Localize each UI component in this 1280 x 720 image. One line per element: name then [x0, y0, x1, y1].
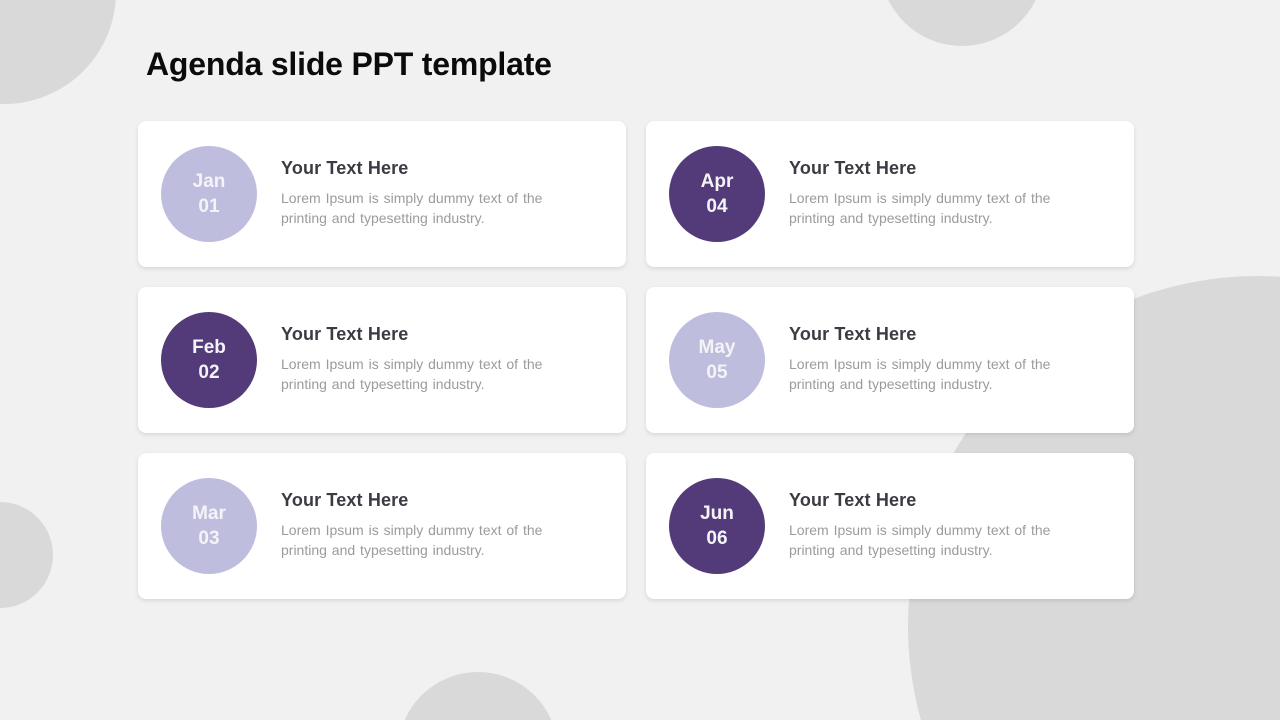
- badge-number-label: 04: [706, 194, 727, 219]
- agenda-card-heading: Your Text Here: [789, 158, 1089, 179]
- agenda-card-grid: Jan 01 Your Text Here Lorem Ipsum is sim…: [138, 121, 1134, 599]
- agenda-card-text: Lorem Ipsum is simply dummy text of the …: [789, 521, 1089, 560]
- badge-month-label: Apr: [701, 169, 734, 194]
- agenda-card-body: Your Text Here Lorem Ipsum is simply dum…: [281, 490, 581, 562]
- badge-number-label: 03: [198, 526, 219, 551]
- agenda-card-text: Lorem Ipsum is simply dummy text of the …: [789, 189, 1089, 228]
- agenda-card-heading: Your Text Here: [789, 324, 1089, 345]
- badge-number-label: 01: [198, 194, 219, 219]
- badge-number-label: 02: [198, 360, 219, 385]
- agenda-card-body: Your Text Here Lorem Ipsum is simply dum…: [281, 158, 581, 230]
- agenda-card-body: Your Text Here Lorem Ipsum is simply dum…: [281, 324, 581, 396]
- agenda-card-heading: Your Text Here: [281, 158, 581, 179]
- month-badge: May 05: [669, 312, 765, 408]
- month-badge: Mar 03: [161, 478, 257, 574]
- agenda-card[interactable]: Mar 03 Your Text Here Lorem Ipsum is sim…: [138, 453, 626, 599]
- agenda-card-text: Lorem Ipsum is simply dummy text of the …: [789, 355, 1089, 394]
- month-badge: Feb 02: [161, 312, 257, 408]
- agenda-card-heading: Your Text Here: [789, 490, 1089, 511]
- agenda-card[interactable]: Feb 02 Your Text Here Lorem Ipsum is sim…: [138, 287, 626, 433]
- agenda-slide: Agenda slide PPT template Jan 01 Your Te…: [0, 0, 1280, 720]
- badge-number-label: 05: [706, 360, 727, 385]
- badge-month-label: May: [699, 335, 736, 360]
- badge-number-label: 06: [706, 526, 727, 551]
- agenda-card-heading: Your Text Here: [281, 324, 581, 345]
- badge-month-label: Jan: [193, 169, 226, 194]
- agenda-card[interactable]: Jan 01 Your Text Here Lorem Ipsum is sim…: [138, 121, 626, 267]
- agenda-card[interactable]: May 05 Your Text Here Lorem Ipsum is sim…: [646, 287, 1134, 433]
- badge-month-label: Feb: [192, 335, 226, 360]
- agenda-card-body: Your Text Here Lorem Ipsum is simply dum…: [789, 490, 1089, 562]
- month-badge: Jan 01: [161, 146, 257, 242]
- page-title: Agenda slide PPT template: [146, 46, 552, 83]
- agenda-card-body: Your Text Here Lorem Ipsum is simply dum…: [789, 324, 1089, 396]
- month-badge: Apr 04: [669, 146, 765, 242]
- badge-month-label: Jun: [700, 501, 734, 526]
- agenda-card[interactable]: Apr 04 Your Text Here Lorem Ipsum is sim…: [646, 121, 1134, 267]
- month-badge: Jun 06: [669, 478, 765, 574]
- agenda-card[interactable]: Jun 06 Your Text Here Lorem Ipsum is sim…: [646, 453, 1134, 599]
- badge-month-label: Mar: [192, 501, 226, 526]
- agenda-card-body: Your Text Here Lorem Ipsum is simply dum…: [789, 158, 1089, 230]
- agenda-card-text: Lorem Ipsum is simply dummy text of the …: [281, 189, 581, 228]
- agenda-card-heading: Your Text Here: [281, 490, 581, 511]
- agenda-card-text: Lorem Ipsum is simply dummy text of the …: [281, 521, 581, 560]
- agenda-card-text: Lorem Ipsum is simply dummy text of the …: [281, 355, 581, 394]
